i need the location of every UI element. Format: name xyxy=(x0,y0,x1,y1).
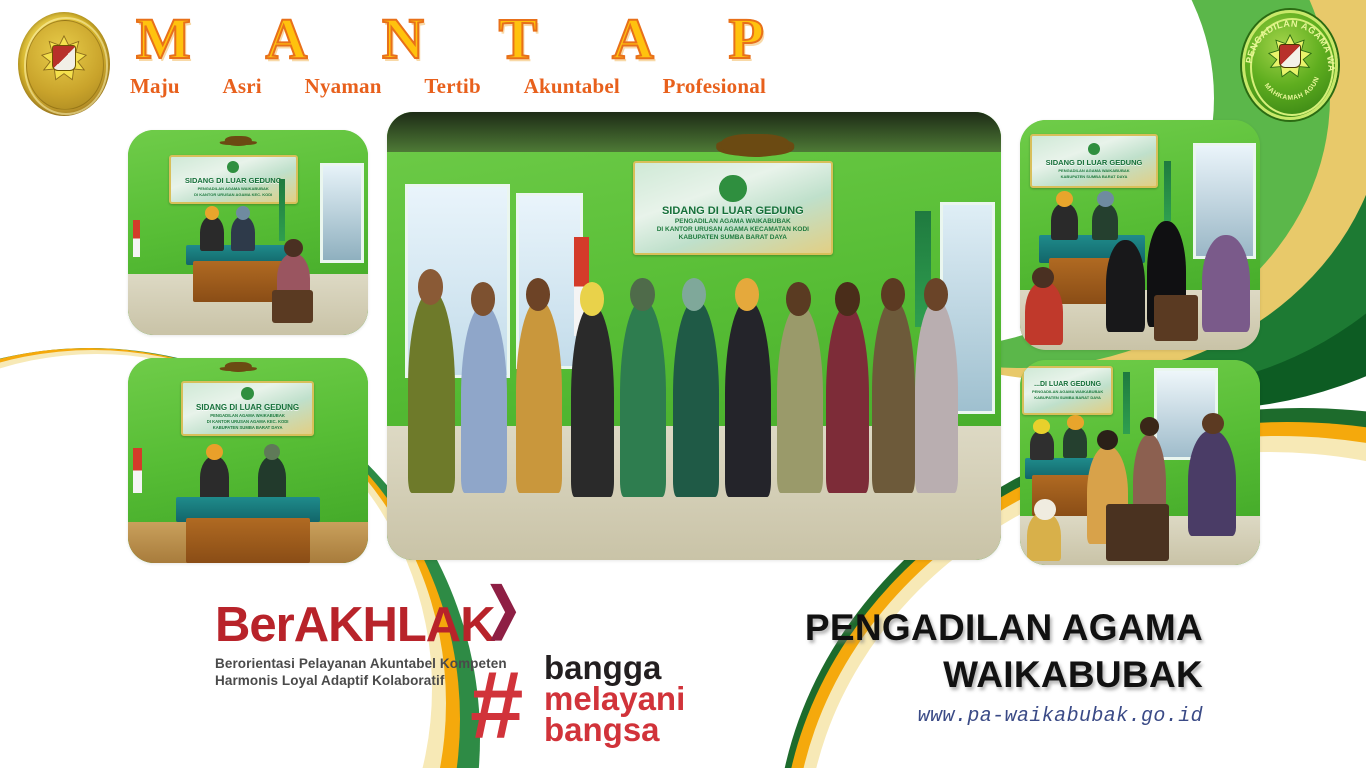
mantap-word-profesional: Profesional xyxy=(663,74,766,99)
mantap-letter-p: P xyxy=(729,8,764,70)
bangga-line2: melayani xyxy=(544,683,685,714)
banner-line1: SIDANG DI LUAR GEDUNG xyxy=(662,205,804,217)
mantap-words-row: Maju Asri Nyaman Tertib Akuntabel Profes… xyxy=(128,74,768,99)
mantap-word-asri: Asri xyxy=(223,74,262,99)
hash-icon: # xyxy=(470,658,523,754)
mantap-acronym-block: M A N T A P Maju Asri Nyaman Tertib Akun… xyxy=(128,8,768,99)
mantap-word-akuntabel: Akuntabel xyxy=(524,74,620,99)
mantap-letters-row: M A N T A P xyxy=(128,8,768,70)
poster-header: M A N T A P Maju Asri Nyaman Tertib Akun… xyxy=(0,0,900,120)
pengadilan-agama-seal-icon: PENGADILAN AGAMA WAIKABUBAK MAHKAMAH AGU… xyxy=(1242,10,1338,120)
mantap-word-maju: Maju xyxy=(130,74,180,99)
berakhlak-main: AKHLAK xyxy=(294,598,495,652)
courtroom-photo-top-right[interactable]: SIDANG DI LUAR GEDUNG PENGADILAN AGAMA W… xyxy=(1020,120,1260,350)
main-group-photo[interactable]: SIDANG DI LUAR GEDUNG PENGADILAN AGAMA W… xyxy=(387,112,1001,560)
poster-canvas: M A N T A P Maju Asri Nyaman Tertib Akun… xyxy=(0,0,1366,768)
mantap-word-nyaman: Nyaman xyxy=(305,74,382,99)
courtroom-photo-bottom-left[interactable]: SIDANG DI LUAR GEDUNG PENGADILAN AGAMA W… xyxy=(128,358,368,563)
mantap-letter-a2: A xyxy=(612,8,654,70)
berakhlak-wordmark: BerAKHLAK ❯ xyxy=(215,600,495,650)
bangga-melayani-bangsa-logo: # bangga melayani bangsa xyxy=(470,650,790,760)
berakhlak-chevron-icon: ❯ xyxy=(485,578,521,641)
berakhlak-prefix: Ber xyxy=(215,598,294,652)
banner-line2: PENGADILAN AGAMA WAIKABUBAK xyxy=(675,218,791,225)
banner-line3: DI KANTOR URUSAN AGAMA KECAMATAN KODI xyxy=(657,226,809,233)
mantap-word-tertib: Tertib xyxy=(424,74,480,99)
bangga-line3: bangsa xyxy=(544,714,685,745)
court-identity-block: PENGADILAN AGAMA WAIKABUBAK www.pa-waika… xyxy=(773,604,1203,728)
court-name-line1: PENGADILAN AGAMA xyxy=(773,604,1203,651)
mantap-letter-n: N xyxy=(382,8,424,70)
mantap-letter-a1: A xyxy=(265,8,307,70)
mantap-letter-t: T xyxy=(499,8,538,70)
mahkamah-agung-emblem-icon xyxy=(18,12,110,116)
mantap-letter-m: M xyxy=(136,8,191,70)
banner-line4: KABUPATEN SUMBA BARAT DAYA xyxy=(679,234,787,241)
courtroom-photo-top-left[interactable]: SIDANG DI LUAR GEDUNG PENGADILAN AGAMA W… xyxy=(128,130,368,335)
bangga-line1: bangga xyxy=(544,652,685,683)
court-name-line2: WAIKABUBAK xyxy=(773,651,1203,698)
courtroom-photo-bottom-right[interactable]: ...DI LUAR GEDUNG PENGADILAN AGAMA WAIKA… xyxy=(1020,360,1260,565)
court-website-url[interactable]: www.pa-waikabubak.go.id xyxy=(773,705,1203,728)
